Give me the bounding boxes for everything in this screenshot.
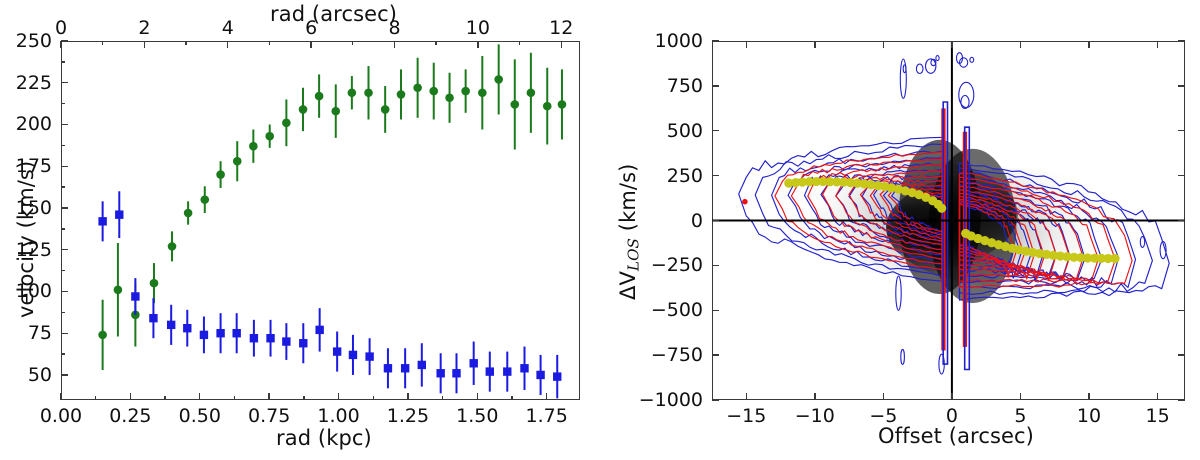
data-point — [384, 364, 392, 372]
x-minortick-bottom — [442, 396, 443, 400]
x-minortick-bottom — [511, 396, 512, 400]
x-ticklabel: −10 — [795, 405, 835, 427]
x-tick-top — [883, 41, 884, 48]
x-tick — [951, 393, 952, 400]
x-tick — [1157, 393, 1158, 400]
data-point — [200, 331, 208, 339]
x-minortick-top — [352, 41, 353, 45]
contour-noise-blob — [901, 349, 905, 364]
data-point — [149, 314, 157, 322]
x-tick-top — [60, 41, 61, 48]
data-point — [315, 326, 323, 334]
y-ticklabel: 200 — [16, 113, 52, 135]
x-tick-bottom — [268, 393, 269, 400]
data-point — [461, 87, 470, 96]
y-ticklabel: 100 — [16, 280, 52, 302]
y-tick-right — [1178, 175, 1185, 176]
contour-noise-blob — [903, 65, 906, 73]
y-ticklabel: −250 — [651, 254, 703, 276]
x-tick-top — [477, 41, 478, 48]
x-ticklabel-top: 6 — [305, 17, 317, 39]
data-point — [249, 142, 258, 151]
y-ticklabel: −750 — [651, 344, 703, 366]
data-point — [445, 93, 454, 102]
data-point — [131, 292, 139, 300]
contour-noise-blob — [960, 58, 968, 67]
y-tick — [712, 40, 719, 41]
x-ticklabel: 0 — [946, 405, 958, 427]
data-point — [233, 157, 242, 166]
y-ticklabel: 750 — [667, 75, 703, 97]
data-point — [452, 369, 460, 377]
x-tick-bottom — [546, 393, 547, 400]
contour-noise-blob — [896, 276, 901, 310]
contour-noise-blob — [970, 57, 974, 62]
x-ticklabel-bottom: 0.75 — [248, 405, 290, 427]
x-ticklabel-bottom: 1.25 — [387, 405, 429, 427]
data-point — [436, 369, 444, 377]
y-ticklabel: 250 — [16, 30, 52, 52]
x-minortick-bottom — [234, 396, 235, 400]
x-tick-bottom — [60, 393, 61, 400]
y-tick-left — [61, 207, 68, 208]
data-point — [365, 352, 373, 360]
rotation-curve-panel: rad (arcsec) rad (kpc) velocity (km/s) 0… — [0, 0, 600, 460]
data-point — [265, 132, 274, 141]
data-point — [520, 364, 528, 372]
y-ticklabel: −500 — [651, 299, 703, 321]
x-minortick-top — [102, 41, 103, 45]
data-point — [429, 87, 438, 96]
y-tick-right — [1178, 220, 1185, 221]
data-point — [503, 367, 511, 375]
y-tick — [712, 265, 719, 266]
data-point — [470, 359, 478, 367]
data-point — [266, 334, 274, 342]
y-minortick-left — [61, 228, 65, 229]
y-tick-right — [1178, 310, 1185, 311]
y-tick-left — [61, 40, 68, 41]
data-point — [98, 331, 107, 340]
data-point — [510, 100, 519, 109]
data-point — [183, 324, 191, 332]
x-tick-bottom — [130, 393, 131, 400]
y-ticklabel: 150 — [16, 197, 52, 219]
data-point — [299, 105, 308, 114]
x-tick — [746, 393, 747, 400]
y-tick — [712, 130, 719, 131]
x-minortick-top — [519, 41, 520, 45]
data-point — [401, 364, 409, 372]
x-tick — [883, 393, 884, 400]
data-point — [418, 361, 426, 369]
series-dispersion — [98, 191, 561, 398]
figure-root: rad (arcsec) rad (kpc) velocity (km/s) 0… — [0, 0, 1200, 460]
data-point — [536, 371, 544, 379]
y-ticklabel: 225 — [16, 72, 52, 94]
y-minortick-left — [61, 103, 65, 104]
y-ticklabel: 1000 — [655, 30, 703, 52]
right-plot-svg — [712, 41, 1185, 400]
x-tick-bottom — [338, 393, 339, 400]
contour-noise-blob — [936, 56, 939, 61]
right-ylabel-sub: LOS — [624, 238, 642, 271]
y-tick-right — [1178, 130, 1185, 131]
x-ticklabel-top: 10 — [466, 17, 490, 39]
data-point — [216, 329, 224, 337]
x-ticklabel: 5 — [1014, 405, 1026, 427]
y-minortick-left — [61, 145, 65, 146]
x-ticklabel: −15 — [726, 405, 766, 427]
data-point — [553, 372, 561, 380]
data-point — [150, 279, 159, 288]
x-ticklabel-bottom: 1.75 — [526, 405, 568, 427]
y-ticklabel: 125 — [16, 239, 52, 261]
y-ticklabel: 50 — [28, 364, 52, 386]
data-point — [397, 90, 406, 99]
right-ylabel-unit: (km/s) — [616, 164, 640, 238]
data-point — [282, 119, 291, 128]
x-ticklabel: 10 — [1077, 405, 1101, 427]
x-tick-top — [746, 41, 747, 48]
x-tick-top — [394, 41, 395, 48]
data-point — [381, 105, 390, 114]
x-tick — [1088, 393, 1089, 400]
y-tick-left — [61, 333, 68, 334]
x-tick-top — [227, 41, 228, 48]
data-point — [299, 339, 307, 347]
x-minortick-top — [185, 41, 186, 45]
y-tick — [712, 399, 719, 400]
y-tick — [712, 354, 719, 355]
x-ticklabel-top: 0 — [55, 17, 67, 39]
data-point — [98, 217, 106, 225]
x-minortick-bottom — [303, 396, 304, 400]
data-point — [558, 100, 567, 109]
x-minortick-top — [269, 41, 270, 45]
data-point — [315, 92, 324, 101]
y-tick-left — [61, 166, 68, 167]
data-point — [114, 286, 123, 295]
x-tick-top — [144, 41, 145, 48]
y-minortick-left — [61, 270, 65, 271]
data-point — [364, 88, 373, 97]
x-ticklabel-bottom: 0.50 — [179, 405, 221, 427]
x-minortick-top — [435, 41, 436, 45]
y-tick-right — [1178, 354, 1185, 355]
y-tick-left — [61, 82, 68, 83]
y-ticklabel: 0 — [691, 210, 703, 232]
y-tick-left — [61, 124, 68, 125]
y-tick-left — [61, 374, 68, 375]
x-ticklabel-bottom: 1.50 — [456, 405, 498, 427]
y-tick — [712, 220, 719, 221]
y-tick-left — [61, 291, 68, 292]
data-point — [349, 351, 357, 359]
y-minortick-left — [61, 312, 65, 313]
left-xlabel-bottom: rad (kpc) — [276, 426, 372, 450]
data-point — [282, 337, 290, 345]
x-ticklabel-top: 12 — [549, 17, 573, 39]
y-tick — [712, 310, 719, 311]
y-minortick-left — [61, 353, 65, 354]
y-tick-right — [1178, 399, 1185, 400]
data-point — [478, 88, 487, 97]
left-xlabel-top: rad (arcsec) — [270, 2, 397, 26]
y-tick-right — [1178, 265, 1185, 266]
x-tick-top — [310, 41, 311, 48]
x-ticklabel-top: 2 — [138, 17, 150, 39]
x-tick-top — [1088, 41, 1089, 48]
x-tick — [814, 393, 815, 400]
x-ticklabel: 15 — [1145, 405, 1169, 427]
data-point — [250, 334, 258, 342]
y-ticklabel: −1000 — [639, 389, 703, 411]
x-ticklabel-bottom: 0.00 — [40, 405, 82, 427]
data-point — [216, 170, 225, 179]
data-point — [333, 347, 341, 355]
contour-noise-blob — [1140, 237, 1144, 248]
y-tick — [712, 85, 719, 86]
left-plot-svg — [61, 41, 580, 400]
right-ylabel-main: ΔV — [616, 271, 640, 300]
y-ticklabel: 250 — [667, 165, 703, 187]
x-minortick-bottom — [164, 396, 165, 400]
x-tick-bottom — [199, 393, 200, 400]
y-ticklabel: 75 — [28, 322, 52, 344]
x-ticklabel-top: 8 — [388, 17, 400, 39]
data-point — [486, 367, 494, 375]
y-tick-right — [1178, 85, 1185, 86]
y-minortick-left — [61, 61, 65, 62]
x-tick-top — [951, 41, 952, 48]
data-point — [115, 210, 123, 218]
y-minortick-left — [61, 186, 65, 187]
data-point — [494, 75, 503, 84]
data-point — [331, 107, 340, 116]
y-tick — [712, 175, 719, 176]
y-tick-left — [61, 249, 68, 250]
position-velocity-panel: Offset (arcsec) ΔVLOS (km/s) — [600, 0, 1200, 460]
contour-noise-blob — [961, 96, 969, 109]
x-tick — [1020, 393, 1021, 400]
y-tick-right — [1178, 40, 1185, 41]
x-minortick-bottom — [95, 396, 96, 400]
track-point — [1110, 254, 1119, 263]
x-tick-top — [561, 41, 562, 48]
data-point — [527, 88, 536, 97]
x-tick-bottom — [477, 393, 478, 400]
x-tick-top — [1157, 41, 1158, 48]
y-ticklabel: 175 — [16, 155, 52, 177]
right-xlabel: Offset (arcsec) — [878, 424, 1034, 448]
data-point — [413, 83, 422, 92]
contour-noise-blob — [916, 64, 923, 73]
x-ticklabel-top: 4 — [222, 17, 234, 39]
data-point — [184, 209, 193, 218]
data-point — [167, 321, 175, 329]
data-point — [543, 102, 552, 111]
x-tick-top — [814, 41, 815, 48]
track-point — [937, 204, 946, 213]
x-ticklabel-bottom: 0.25 — [109, 405, 151, 427]
data-point — [232, 329, 240, 337]
y-ticklabel: 500 — [667, 120, 703, 142]
x-tick-bottom — [407, 393, 408, 400]
x-tick-top — [1020, 41, 1021, 48]
x-ticklabel: −5 — [869, 405, 897, 427]
right-ylabel: ΔVLOS (km/s) — [616, 164, 642, 300]
x-minortick-bottom — [373, 396, 374, 400]
contour-noise-blob — [743, 200, 747, 204]
x-ticklabel-bottom: 1.00 — [317, 405, 359, 427]
data-point — [348, 88, 357, 97]
data-point — [200, 195, 209, 204]
data-point — [168, 242, 177, 251]
